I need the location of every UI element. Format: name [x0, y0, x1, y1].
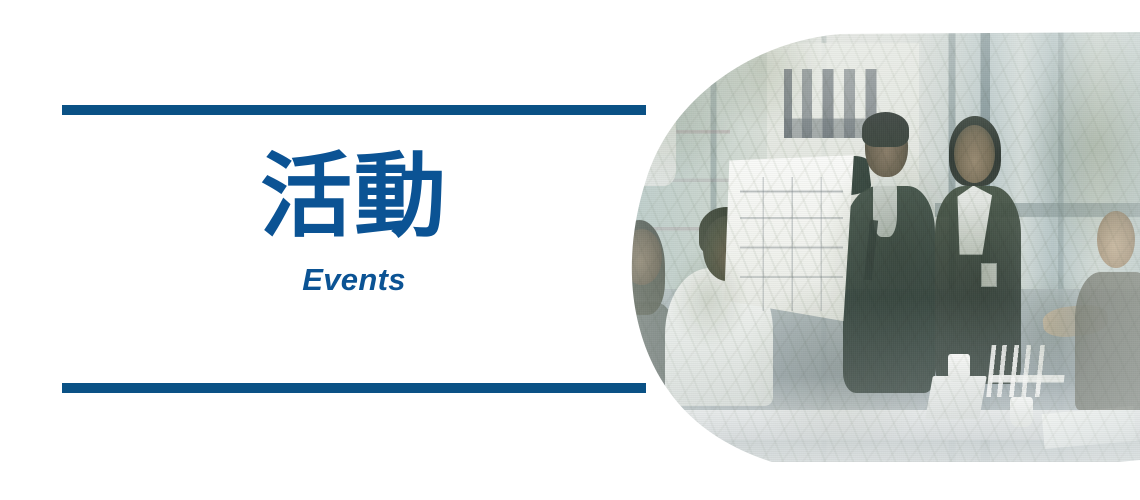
- standing-woman-head: [954, 125, 995, 183]
- seated-person-right-head: [1097, 211, 1135, 267]
- page-title-kanji: 活動: [62, 150, 646, 244]
- hero-photo-panel: [600, 30, 1140, 462]
- seated-person-right-body: [1075, 272, 1140, 410]
- title-block: 活動 Events: [62, 150, 646, 295]
- events-banner: 活動 Events: [0, 0, 1140, 500]
- laptop: [926, 376, 988, 419]
- page-title-subtitle: Events: [62, 264, 646, 295]
- standing-man-hair: [862, 112, 908, 147]
- coffee-cup-left: [948, 354, 970, 382]
- blueprint-drawing-lines: [740, 177, 843, 311]
- coffee-cup-right: [1010, 397, 1033, 427]
- top-accent-rule: [62, 105, 646, 115]
- standing-woman-id-badge: [981, 263, 997, 287]
- architectural-model: [986, 345, 1067, 397]
- meeting-photo: [600, 30, 1140, 462]
- bottom-accent-rule: [62, 383, 646, 393]
